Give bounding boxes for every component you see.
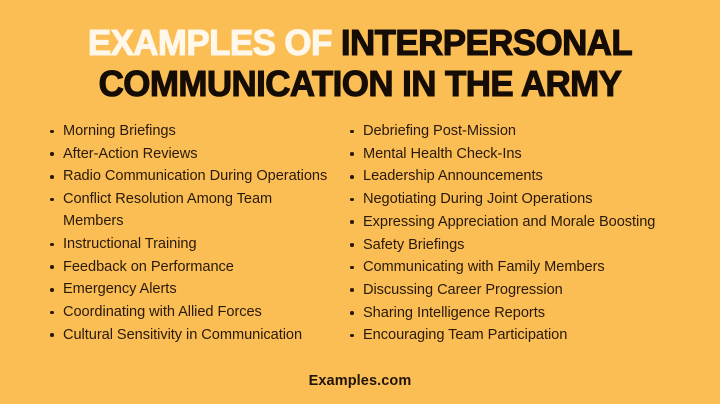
list-item: Leadership Announcements — [348, 165, 670, 187]
poster-footer: Examples.com — [0, 368, 720, 404]
right-bullet-list: Debriefing Post-Mission Mental Health Ch… — [348, 120, 670, 347]
title-line-1: EXAMPLES OF INTERPERSONAL — [44, 22, 676, 63]
title-highlight-text: EXAMPLES OF — [88, 22, 332, 63]
brand-label: Examples.com — [309, 373, 412, 389]
title-line1-rest: INTERPERSONAL — [341, 22, 632, 63]
examples-lists: Morning Briefings After-Action Reviews R… — [0, 104, 720, 368]
list-item: Morning Briefings — [48, 120, 330, 142]
list-item: Feedback on Performance — [48, 256, 330, 278]
right-column: Debriefing Post-Mission Mental Health Ch… — [330, 120, 670, 368]
list-item: Safety Briefings — [348, 234, 670, 256]
list-item: Negotiating During Joint Operations — [348, 188, 670, 210]
list-item: Discussing Career Progression — [348, 279, 670, 301]
list-item: Debriefing Post-Mission — [348, 120, 670, 142]
list-item: Emergency Alerts — [48, 278, 330, 300]
list-item: Communicating with Family Members — [348, 256, 670, 278]
list-item: Encouraging Team Participation — [348, 324, 670, 346]
list-item: Coordinating with Allied Forces — [48, 301, 330, 323]
poster-canvas: EXAMPLES OF INTERPERSONAL COMMUNICATION … — [0, 0, 720, 404]
poster-title: EXAMPLES OF INTERPERSONAL COMMUNICATION … — [0, 0, 720, 104]
left-bullet-list: Morning Briefings After-Action Reviews R… — [48, 120, 330, 346]
title-line-2: COMMUNICATION IN THE ARMY — [44, 63, 676, 104]
list-item: Expressing Appreciation and Morale Boost… — [348, 211, 670, 233]
list-item: Mental Health Check-Ins — [348, 143, 670, 165]
list-item: Cultural Sensitivity in Communication — [48, 324, 330, 346]
list-item: Instructional Training — [48, 233, 330, 255]
left-column: Morning Briefings After-Action Reviews R… — [0, 120, 330, 368]
list-item: Sharing Intelligence Reports — [348, 302, 670, 324]
list-item: Radio Communication During Operations — [48, 165, 330, 187]
list-item: After-Action Reviews — [48, 143, 330, 165]
list-item: Conflict Resolution Among Team Members — [48, 188, 330, 232]
